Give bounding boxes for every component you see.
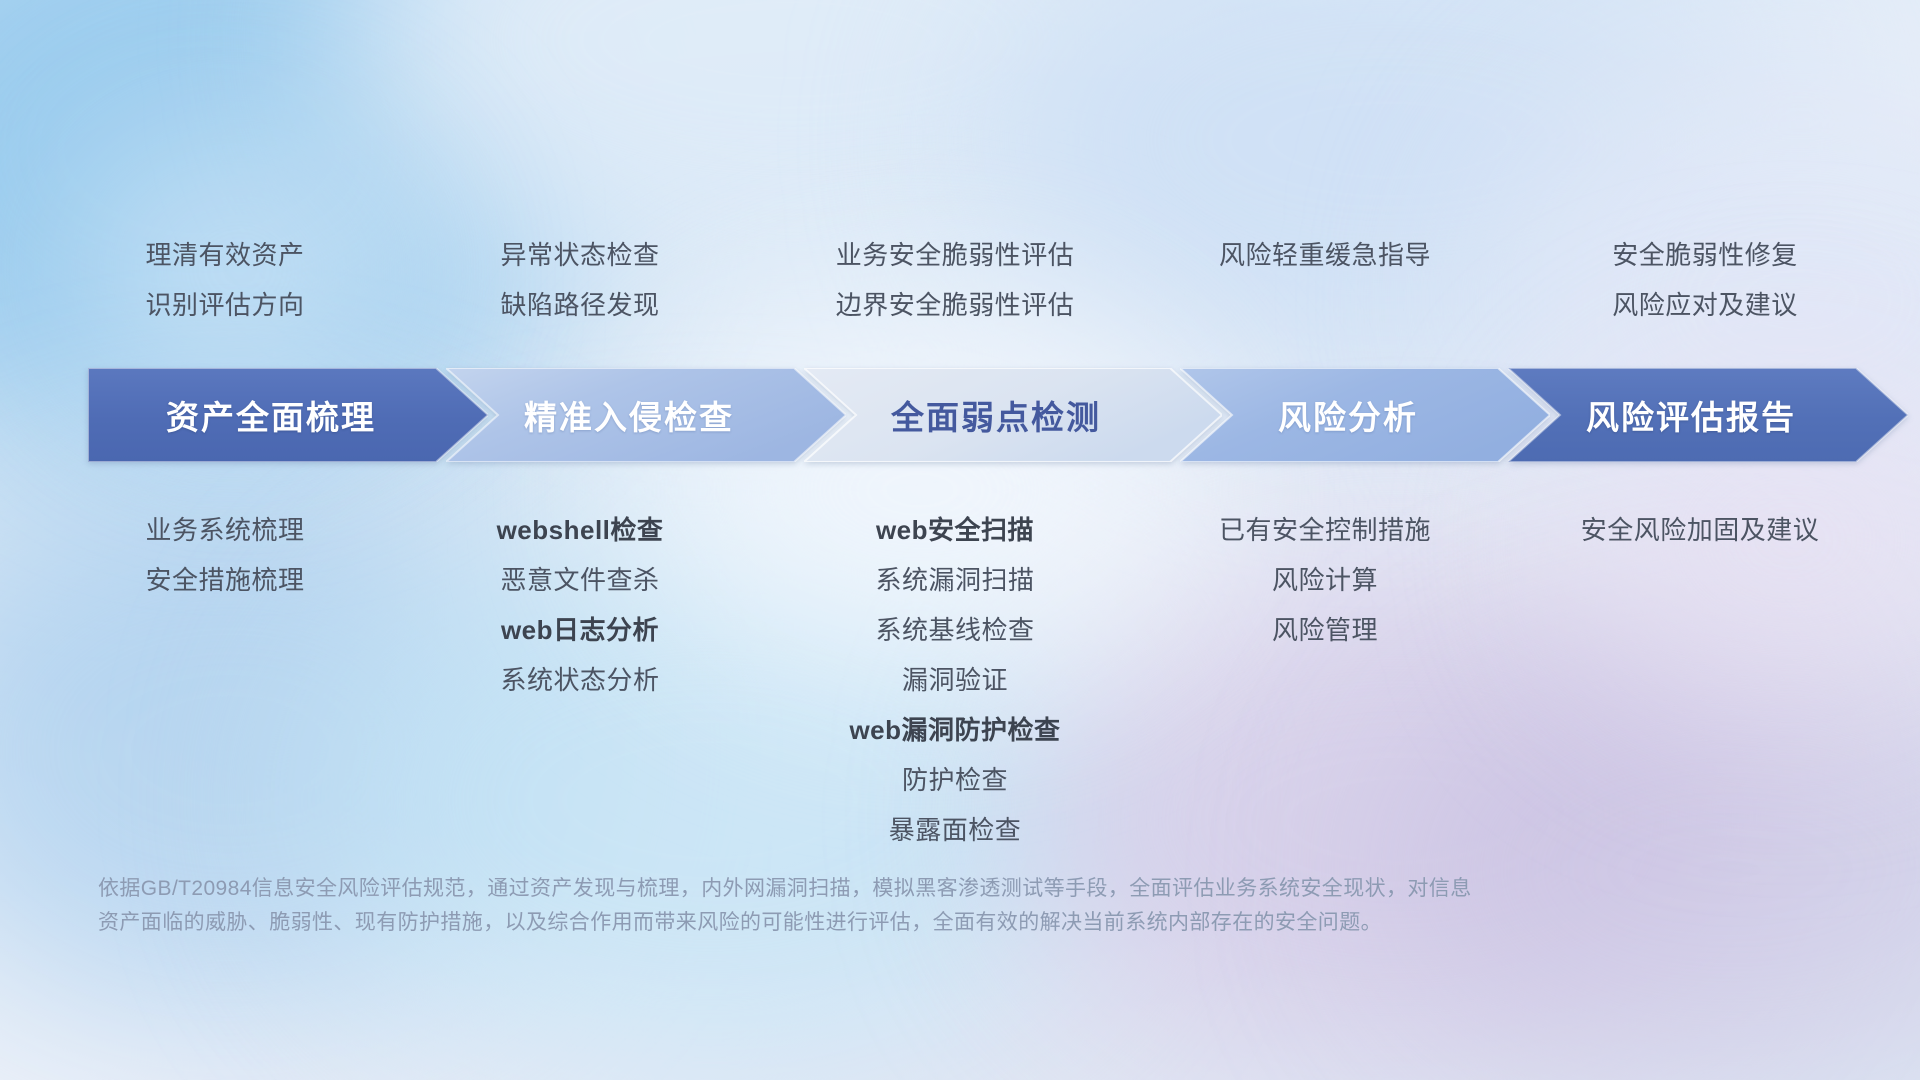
- above-label: 异常状态检查: [415, 230, 745, 280]
- below-label: 暴露面检查: [765, 805, 1145, 855]
- chevron-label: 资产全面梳理: [156, 391, 420, 439]
- below-label: 安全措施梳理: [60, 555, 390, 605]
- footer-line-2: 资产面临的威胁、脆弱性、现有防护措施，以及综合作用而带来风险的可能性进行评估，全…: [98, 906, 1618, 940]
- below-label: 系统漏洞扫描: [765, 555, 1145, 605]
- below-label: 安全风险加固及建议: [1500, 505, 1900, 555]
- below-label: 风险计算: [1120, 555, 1530, 605]
- below-label: web日志分析: [415, 605, 745, 655]
- below-label: 已有安全控制措施: [1120, 505, 1530, 555]
- chevron-stage-risk-analysis[interactable]: 风险分析: [1180, 368, 1550, 462]
- chevron-label: 精准入侵检查: [524, 391, 768, 439]
- above-label: 缺陷路径发现: [415, 280, 745, 330]
- below-label: webshell检查: [415, 505, 745, 555]
- above-label: 风险应对及建议: [1510, 280, 1900, 330]
- chevron-label: 风险评估报告: [1586, 391, 1830, 439]
- below-label: 漏洞验证: [765, 655, 1145, 705]
- above-label: 边界安全脆弱性评估: [765, 280, 1145, 330]
- below-label: 系统状态分析: [415, 655, 745, 705]
- chevron-stage-weakness-detection[interactable]: 全面弱点检测: [804, 368, 1222, 462]
- chevron-label: 风险分析: [1278, 391, 1452, 439]
- footer-line-1: 依据GB/T20984信息安全风险评估规范，通过资产发现与梳理，内外网漏洞扫描，…: [98, 872, 1618, 906]
- chevron-stage-risk-report[interactable]: 风险评估报告: [1508, 368, 1908, 462]
- stage-below-labels-5: 安全风险加固及建议: [1500, 505, 1900, 555]
- stage-above-labels-2: 异常状态检查 缺陷路径发现: [415, 230, 745, 330]
- process-diagram: 理清有效资产 识别评估方向 异常状态检查 缺陷路径发现 业务安全脆弱性评估 边界…: [0, 0, 1920, 1080]
- stage-above-labels-4: 风险轻重缓急指导: [1115, 230, 1535, 280]
- above-label: 风险轻重缓急指导: [1115, 230, 1535, 280]
- stage-below-labels-3: web安全扫描 系统漏洞扫描 系统基线检查 漏洞验证 web漏洞防护检查 防护检…: [765, 505, 1145, 855]
- above-label: 业务安全脆弱性评估: [765, 230, 1145, 280]
- chevron-stage-intrusion-check[interactable]: 精准入侵检查: [446, 368, 846, 462]
- process-chevron-band: 资产全面梳理 精准入侵检查: [88, 368, 1836, 462]
- above-label: 理清有效资产: [60, 230, 390, 280]
- footer-description: 依据GB/T20984信息安全风险评估规范，通过资产发现与梳理，内外网漏洞扫描，…: [98, 872, 1618, 940]
- stage-below-labels-2: webshell检查 恶意文件查杀 web日志分析 系统状态分析: [415, 505, 745, 705]
- chevron-label: 全面弱点检测: [891, 391, 1135, 439]
- stage-above-labels-5: 安全脆弱性修复 风险应对及建议: [1510, 230, 1900, 330]
- stage-below-labels-1: 业务系统梳理 安全措施梳理: [60, 505, 390, 605]
- below-label: web漏洞防护检查: [765, 705, 1145, 755]
- stage-above-labels-3: 业务安全脆弱性评估 边界安全脆弱性评估: [765, 230, 1145, 330]
- above-label: 识别评估方向: [60, 280, 390, 330]
- below-label: 防护检查: [765, 755, 1145, 805]
- below-label: 业务系统梳理: [60, 505, 390, 555]
- stage-below-labels-4: 已有安全控制措施 风险计算 风险管理: [1120, 505, 1530, 655]
- below-label: web安全扫描: [765, 505, 1145, 555]
- below-label: 风险管理: [1120, 605, 1530, 655]
- below-label: 恶意文件查杀: [415, 555, 745, 605]
- above-label: 安全脆弱性修复: [1510, 230, 1900, 280]
- below-label: 系统基线检查: [765, 605, 1145, 655]
- chevron-stage-asset-inventory[interactable]: 资产全面梳理: [88, 368, 488, 462]
- stage-above-labels-1: 理清有效资产 识别评估方向: [60, 230, 390, 330]
